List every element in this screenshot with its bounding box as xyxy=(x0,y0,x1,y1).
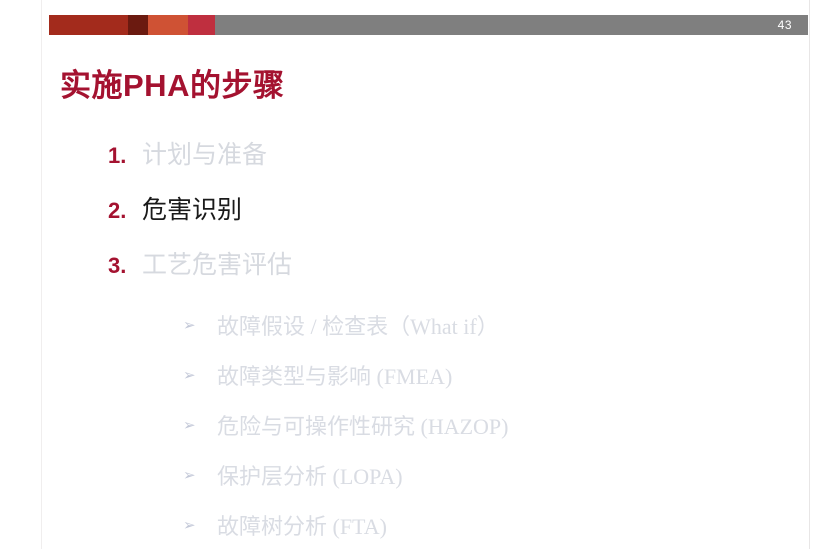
arrow-right-icon: ➢ xyxy=(183,368,217,383)
step-label: 计划与准备 xyxy=(142,135,267,171)
sub-item-label: 保护层分析 (LOPA) xyxy=(217,459,403,491)
step-number: 3. xyxy=(108,253,142,279)
presentation-slide: 43 实施PHA的步骤 1. 计划与准备 2. 危害识别 3. 工艺危害评估 ➢… xyxy=(0,0,827,549)
band-segment-orange-red xyxy=(148,15,188,35)
sub-item-label: 故障树分析 (FTA) xyxy=(217,509,387,541)
sub-item-fta[interactable]: ➢ 故障树分析 (FTA) xyxy=(183,500,823,550)
sub-item-label: 故障假设 / 检查表（What if） xyxy=(217,309,499,341)
step-item-3[interactable]: 3. 工艺危害评估 xyxy=(108,245,808,300)
sub-item-label: 故障类型与影响 (FMEA) xyxy=(217,359,452,391)
sub-item-what-if[interactable]: ➢ 故障假设 / 检查表（What if） xyxy=(183,300,823,350)
page-number: 43 xyxy=(778,19,808,31)
arrow-right-icon: ➢ xyxy=(183,318,217,333)
step-item-1[interactable]: 1. 计划与准备 xyxy=(108,135,808,190)
arrow-right-icon: ➢ xyxy=(183,418,217,433)
step-number: 2. xyxy=(108,198,142,224)
band-segment-crimson xyxy=(188,15,215,35)
arrow-right-icon: ➢ xyxy=(183,468,217,483)
header-color-band: 43 xyxy=(49,15,808,35)
step-label: 工艺危害评估 xyxy=(142,245,292,281)
step-item-2[interactable]: 2. 危害识别 xyxy=(108,190,808,245)
sub-item-lopa[interactable]: ➢ 保护层分析 (LOPA) xyxy=(183,450,823,500)
step-label: 危害识别 xyxy=(142,190,242,226)
step-number: 1. xyxy=(108,143,142,169)
sub-item-label: 危险与可操作性研究 (HAZOP) xyxy=(217,409,509,441)
band-segment-gray: 43 xyxy=(215,15,808,35)
sub-item-hazop[interactable]: ➢ 危险与可操作性研究 (HAZOP) xyxy=(183,400,823,450)
slide-left-border xyxy=(41,0,42,549)
sub-items-list: ➢ 故障假设 / 检查表（What if） ➢ 故障类型与影响 (FMEA) ➢… xyxy=(183,300,823,550)
band-segment-dark-maroon xyxy=(128,15,148,35)
sub-item-fmea[interactable]: ➢ 故障类型与影响 (FMEA) xyxy=(183,350,823,400)
steps-list: 1. 计划与准备 2. 危害识别 3. 工艺危害评估 xyxy=(108,135,808,300)
page-title: 实施PHA的步骤 xyxy=(60,60,284,105)
arrow-right-icon: ➢ xyxy=(183,518,217,533)
band-segment-brick-red xyxy=(49,15,128,35)
